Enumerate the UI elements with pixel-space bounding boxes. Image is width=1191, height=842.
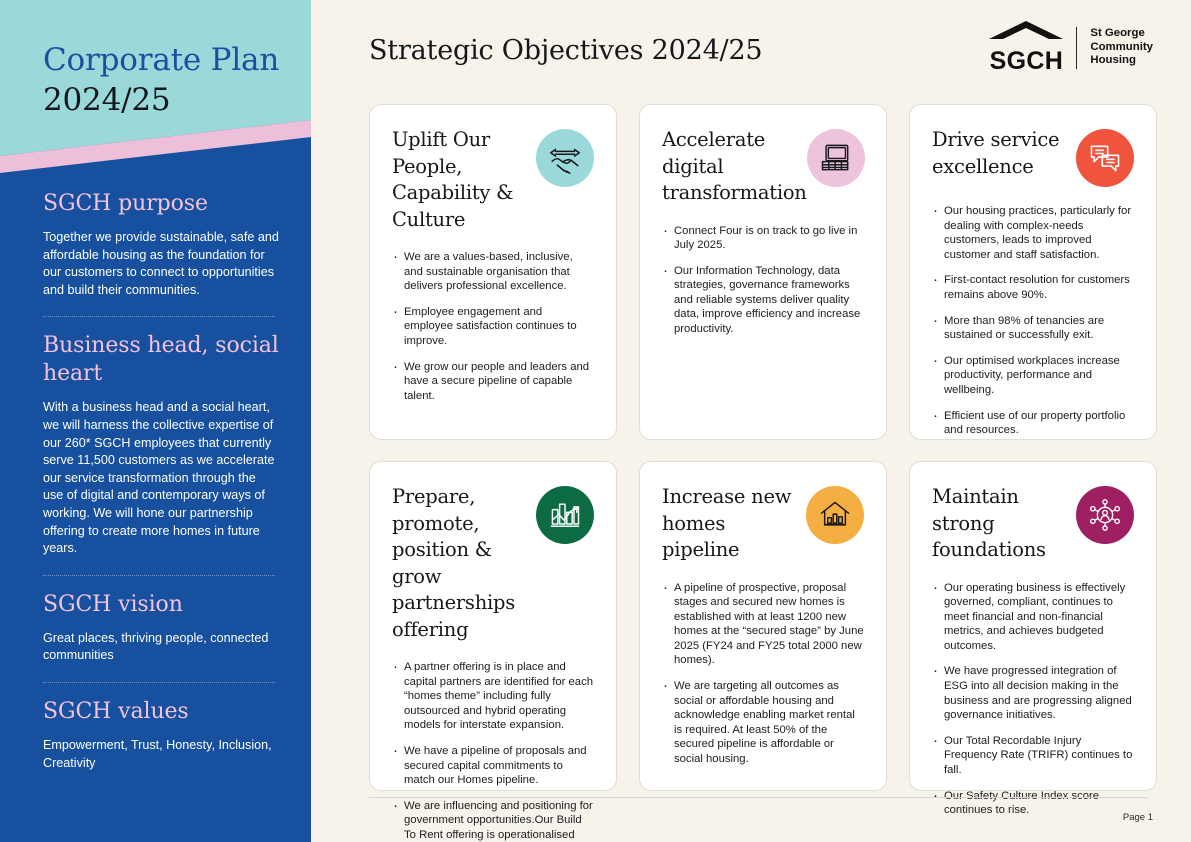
page-title: Strategic Objectives 2024/25 (369, 34, 762, 68)
list-item: Our Total Recordable Injury Frequency Ra… (932, 734, 1134, 778)
sidebar-block-purpose: SGCH purpose Together we provide sustain… (43, 190, 279, 299)
page-number: Page 1 (1123, 812, 1153, 823)
list-item: First-contact resolution for customers r… (932, 273, 1134, 302)
objective-card-digital-transformation: Accelerate digital transformation Connec… (639, 104, 887, 440)
sidebar-block-vision: SGCH vision Great places, thriving peopl… (43, 591, 279, 665)
logo-org-name: St George Community Housing (1090, 27, 1153, 68)
card-title: Increase new homes pipeline (662, 484, 806, 564)
card-title: Prepare, promote, position & grow partne… (392, 484, 536, 643)
logo-wordmark: SGCH (990, 49, 1063, 74)
card-header: Prepare, promote, position & grow partne… (392, 484, 594, 643)
list-item: Our Information Technology, data strateg… (662, 264, 864, 337)
laptop-icon (807, 129, 865, 187)
card-title: Uplift Our People, Capability & Culture (392, 127, 536, 233)
card-bullet-list: Our operating business is effectively go… (932, 581, 1134, 818)
sidebar-body-vision: Great places, thriving people, connected… (43, 630, 279, 665)
objective-card-strong-foundations: Maintain strong foundations (909, 461, 1157, 791)
bar-chart-growth-icon (536, 486, 594, 544)
corporate-plan-page: Corporate Plan 2024/25 SGCH purpose Toge… (0, 0, 1191, 842)
handshake-icon (536, 129, 594, 187)
main-content: Strategic Objectives 2024/25 SGCH St Geo… (311, 0, 1191, 842)
list-item: We have a pipeline of proposals and secu… (392, 744, 594, 788)
objective-card-service-excellence: Drive service excellence Our housing pra… (909, 104, 1157, 440)
footer-divider (369, 797, 1147, 798)
sidebar-body-business-head: With a business head and a social heart,… (43, 399, 279, 557)
card-bullet-list: We are a values-based, inclusive, and su… (392, 250, 594, 403)
speech-bubbles-icon (1076, 129, 1134, 187)
objective-card-partnerships: Prepare, promote, position & grow partne… (369, 461, 617, 791)
list-item: We grow our people and leaders and have … (392, 360, 594, 404)
logo-org-line-2: Community (1090, 41, 1153, 55)
objective-card-new-homes-pipeline: Increase new homes pipeline A pipe (639, 461, 887, 791)
sidebar-block-values: SGCH values Empowerment, Trust, Honesty,… (43, 698, 279, 772)
list-item: Our optimised workplaces increase produc… (932, 354, 1134, 398)
list-item: Our operating business is effectively go… (932, 581, 1134, 654)
card-header: Accelerate digital transformation (662, 127, 864, 207)
sidebar-heading-values: SGCH values (43, 698, 279, 726)
logo-org-line-3: Housing (1090, 54, 1153, 68)
card-bullet-list: Connect Four is on track to go live in J… (662, 224, 864, 337)
card-title: Accelerate digital transformation (662, 127, 807, 207)
list-item: Our Safety Culture Index score continues… (932, 789, 1134, 818)
plan-title: Corporate Plan 2024/25 (43, 40, 293, 120)
sidebar-divider-2 (43, 575, 275, 576)
list-item: Efficient use of our property portfolio … (932, 409, 1134, 438)
sidebar-heading-business-head: Business head, social heart (43, 332, 279, 388)
objectives-grid: Uplift Our People, Capability & Culture (369, 104, 1157, 812)
sidebar-heading-vision: SGCH vision (43, 591, 279, 619)
network-person-icon (1076, 486, 1134, 544)
logo-mark: SGCH (989, 21, 1063, 74)
card-title: Maintain strong foundations (932, 484, 1076, 564)
list-item: We are a values-based, inclusive, and su… (392, 250, 594, 294)
plan-year-text: 2024/25 (43, 80, 293, 120)
card-bullet-list: A pipeline of prospective, proposal stag… (662, 581, 864, 767)
list-item: We are targeting all outcomes as social … (662, 679, 864, 767)
sidebar-divider-3 (43, 682, 275, 683)
sgch-logo: SGCH St George Community Housing (989, 20, 1153, 75)
card-header: Maintain strong foundations (932, 484, 1134, 564)
card-title: Drive service excellence (932, 127, 1076, 180)
card-header: Increase new homes pipeline (662, 484, 864, 564)
list-item: More than 98% of tenancies are sustained… (932, 314, 1134, 343)
logo-org-line-1: St George (1090, 27, 1153, 41)
list-item: Connect Four is on track to go live in J… (662, 224, 864, 253)
sidebar-heading-purpose: SGCH purpose (43, 190, 279, 218)
sidebar-content: SGCH purpose Together we provide sustain… (43, 190, 279, 772)
objective-card-uplift-people: Uplift Our People, Capability & Culture (369, 104, 617, 440)
list-item: Employee engagement and employee satisfa… (392, 305, 594, 349)
plan-title-text: Corporate Plan (43, 42, 279, 78)
list-item: A partner offering is in place and capit… (392, 660, 594, 733)
list-item: A pipeline of prospective, proposal stag… (662, 581, 864, 669)
sidebar-block-business-head: Business head, social heart With a busin… (43, 332, 279, 557)
card-bullet-list: Our housing practices, particularly for … (932, 204, 1134, 438)
roof-icon (989, 21, 1063, 48)
card-bullet-list: A partner offering is in place and capit… (392, 660, 594, 842)
sidebar-body-values: Empowerment, Trust, Honesty, Inclusion, … (43, 737, 279, 772)
sidebar: Corporate Plan 2024/25 SGCH purpose Toge… (0, 0, 311, 842)
sidebar-divider-1 (43, 316, 275, 317)
list-item: We have progressed integration of ESG in… (932, 664, 1134, 722)
card-header: Uplift Our People, Capability & Culture (392, 127, 594, 233)
list-item: Our housing practices, particularly for … (932, 204, 1134, 262)
house-chart-icon (806, 486, 864, 544)
logo-divider (1076, 27, 1077, 69)
sidebar-body-purpose: Together we provide sustainable, safe an… (43, 229, 279, 299)
card-header: Drive service excellence (932, 127, 1134, 187)
list-item: We are influencing and positioning for g… (392, 799, 594, 842)
